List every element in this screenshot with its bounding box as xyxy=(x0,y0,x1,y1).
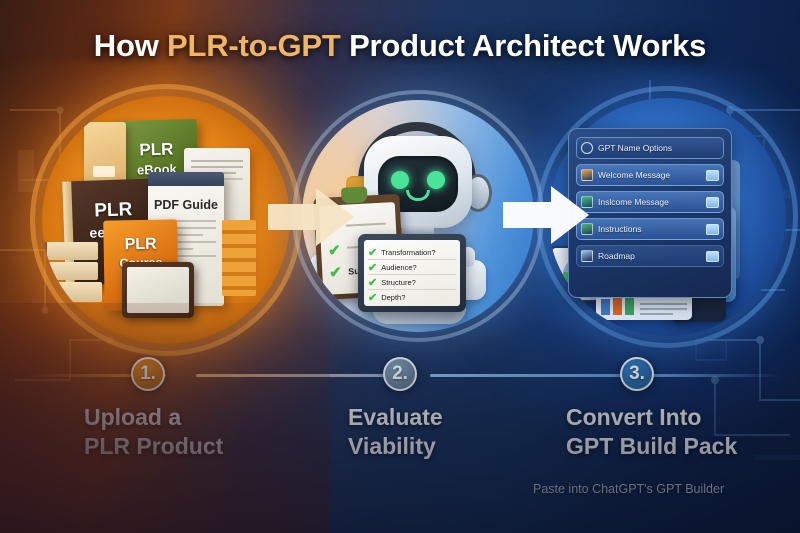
checklist-tablet: ✔Transformation?✔Audience?✔Structure?✔De… xyxy=(358,234,466,312)
book-line-1: PLR xyxy=(139,140,173,160)
title-part-2: Product Architect Works xyxy=(341,28,707,63)
gpt-build-pack-list[interactable]: GPT Name OptionsWelcome MessageInslcome … xyxy=(568,128,732,298)
gpt-list-item[interactable]: Roadmap xyxy=(576,245,724,267)
book-label: PDF Guide xyxy=(148,198,224,212)
gpt-list-item[interactable]: GPT Name Options xyxy=(576,137,724,159)
check-icon: ✔ xyxy=(368,291,377,304)
page-title: How PLR-to-GPT Product Architect Works xyxy=(0,28,800,64)
gpt-list-item[interactable]: Inslcome Message xyxy=(576,191,724,213)
gpt-list-item[interactable]: Welcome Message xyxy=(576,164,724,186)
checklist-item-label: Structure? xyxy=(381,278,416,287)
checklist-item[interactable]: ✔Structure? xyxy=(368,275,456,290)
gpt-list-item-label: Roadmap xyxy=(598,251,701,261)
book-line-1: PLR xyxy=(124,236,156,254)
robot-eye-right xyxy=(427,171,445,189)
gpt-list-item-badge[interactable] xyxy=(706,251,719,262)
arrow-middle-to-right xyxy=(503,186,589,244)
target-icon xyxy=(581,142,593,154)
book-stack-item xyxy=(46,282,102,302)
checklist-screen: ✔Transformation?✔Audience?✔Structure?✔De… xyxy=(364,240,460,306)
book-stack-item xyxy=(42,242,98,260)
check-icon: ✔ xyxy=(368,276,377,289)
check-icon: ✔ xyxy=(368,246,377,259)
gpt-list-item[interactable]: Instructions xyxy=(576,218,724,240)
gpt-list-item-label: GPT Name Options xyxy=(598,143,719,153)
checklist-item[interactable]: ✔Audience? xyxy=(368,260,456,275)
robot-eye-left xyxy=(391,171,409,189)
checklist-item[interactable]: ✔Depth? xyxy=(368,290,456,305)
gpt-list-item-label: Welcome Message xyxy=(598,170,701,180)
checklist-item-label: Depth? xyxy=(381,293,405,302)
gpt-list-item-badge[interactable] xyxy=(706,224,719,235)
robot-smile xyxy=(406,190,430,201)
book-line-1: PDF Guide xyxy=(154,198,218,212)
map-icon xyxy=(581,250,593,262)
check-icon: ✔ xyxy=(329,263,343,282)
gpt-list-item-badge[interactable] xyxy=(706,197,719,208)
book-line-1: PLR xyxy=(94,199,133,221)
arrow-left-to-middle xyxy=(268,188,354,246)
checklist-item-label: Audience? xyxy=(381,263,416,272)
checklist-item-label: Transformation? xyxy=(381,248,435,257)
book-spine-sticker xyxy=(93,166,115,177)
infographic-canvas: PLR eBook PLR eebook PDF Guide xyxy=(0,0,800,533)
gpt-list-item-label: Inslcome Message xyxy=(598,197,701,207)
book-stack-right xyxy=(222,220,256,296)
checklist-item[interactable]: ✔Transformation? xyxy=(368,245,456,260)
gpt-list-item-label: Instructions xyxy=(598,224,701,234)
title-highlight: PLR-to-GPT xyxy=(167,28,341,63)
gpt-list-item-badge[interactable] xyxy=(706,170,719,181)
title-part-1: How xyxy=(94,28,167,63)
inbox-icon xyxy=(581,169,593,181)
background-bottom-shade xyxy=(0,313,800,533)
check-icon: ✔ xyxy=(368,261,377,274)
book-stack-item xyxy=(44,262,98,280)
